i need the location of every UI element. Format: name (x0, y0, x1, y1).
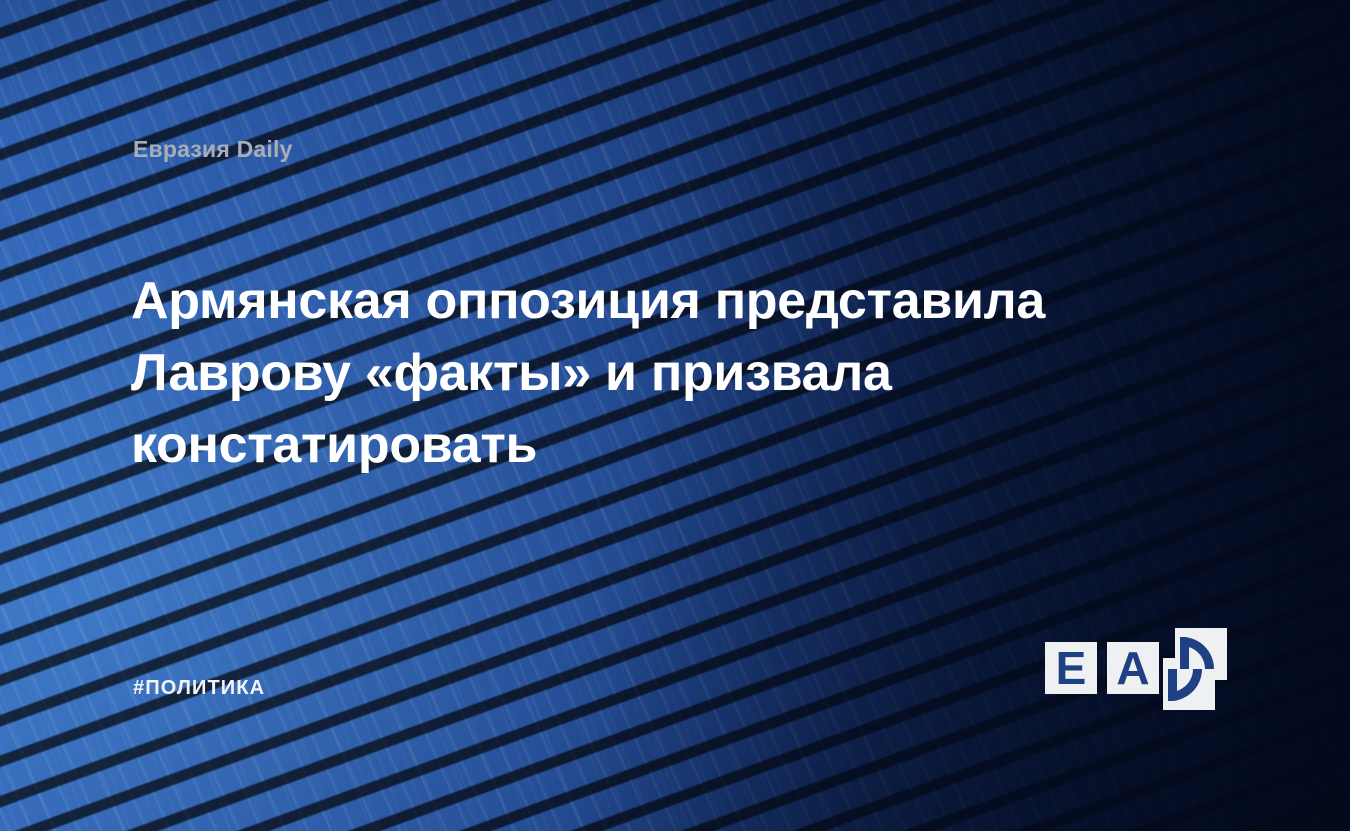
news-share-card: Евразия Daily Армянская оппозиция предст… (0, 0, 1350, 831)
headline-line-1: Армянская оппозиция представила (131, 265, 1131, 337)
logo-letter-a: A (1107, 642, 1159, 694)
card-content: Евразия Daily Армянская оппозиция предст… (0, 0, 1350, 831)
headline-line-2: Лаврову «факты» и призвала (131, 337, 1131, 409)
logo-letter-d (1163, 628, 1227, 710)
brand-name: Евразия Daily (133, 136, 293, 163)
headline: Армянская оппозиция представила Лаврову … (131, 265, 1131, 481)
topic-tag[interactable]: #ПОЛИТИКА (133, 677, 265, 700)
headline-line-3: констатировать (131, 409, 1131, 481)
logo-letter-d-lower (1163, 669, 1215, 710)
ead-logo: E A (1045, 628, 1227, 710)
logo-letter-d-upper (1175, 628, 1227, 669)
logo-letter-e: E (1045, 642, 1097, 694)
